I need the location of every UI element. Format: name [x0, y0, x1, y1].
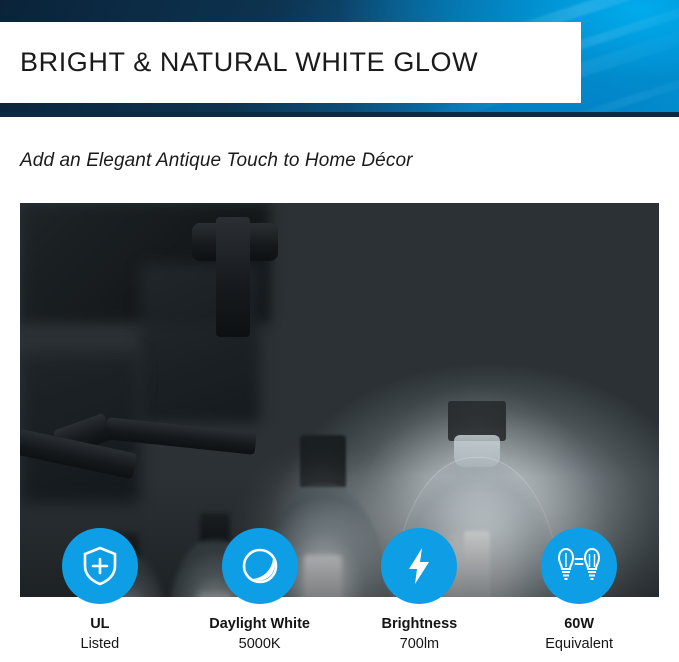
page-subtitle: Add an Elegant Antique Touch to Home Déc…	[20, 150, 413, 172]
lightning-bolt-icon	[406, 546, 432, 586]
bulb-equals-bulb-icon	[553, 546, 605, 586]
photo-pipe-fitting	[216, 217, 250, 337]
feature-item-wattage: 60W Equivalent	[499, 528, 659, 662]
shield-plus-icon	[81, 546, 119, 586]
feature-sublabel: 5000K	[239, 635, 281, 655]
header-banner: BRIGHT & NATURAL WHITE GLOW	[0, 0, 679, 117]
feature-sublabel: 700lm	[400, 635, 440, 655]
feature-row: UL Listed Daylight White 5000K	[20, 528, 659, 662]
title-plate: BRIGHT & NATURAL WHITE GLOW	[0, 22, 581, 103]
feature-item-ul: UL Listed	[20, 528, 180, 662]
banner-bottom-rule	[0, 112, 679, 117]
feature-sublabel: Listed	[81, 635, 120, 655]
feature-icon-circle	[381, 528, 457, 604]
feature-icon-circle	[62, 528, 138, 604]
feature-sublabel: Equivalent	[545, 635, 613, 655]
feature-icon-circle	[222, 528, 298, 604]
feature-label: Brightness	[382, 615, 458, 635]
feature-label: UL	[90, 615, 109, 635]
feature-item-color-temp: Daylight White 5000K	[180, 528, 340, 662]
feature-item-brightness: Brightness 700lm	[340, 528, 500, 662]
moon-circle-icon	[240, 546, 280, 586]
feature-icon-circle	[541, 528, 617, 604]
feature-label: 60W	[564, 615, 594, 635]
feature-label: Daylight White	[209, 615, 310, 635]
product-feature-page: BRIGHT & NATURAL WHITE GLOW Add an Elega…	[0, 0, 679, 662]
page-title: BRIGHT & NATURAL WHITE GLOW	[20, 47, 478, 78]
